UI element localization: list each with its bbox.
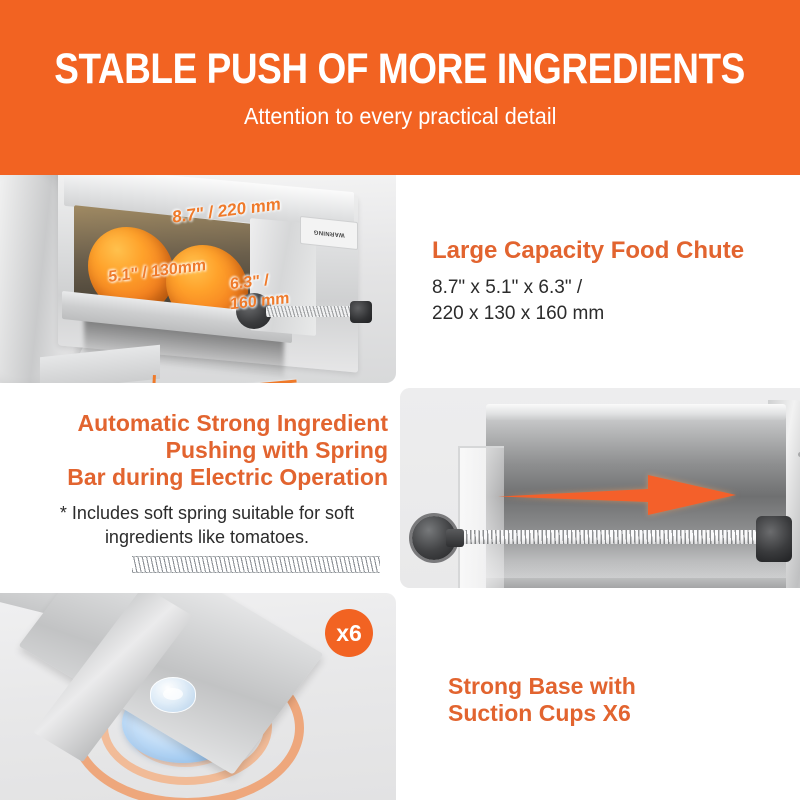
suction-text-panel: Strong Base with Suction Cups X6 bbox=[400, 593, 800, 800]
spring-bar-note-line-1: * Includes soft spring suitable for soft bbox=[26, 502, 388, 525]
suction-cup-nub bbox=[150, 677, 196, 713]
spring-bar-heading-line-1: Automatic Strong Ingredient bbox=[8, 410, 388, 437]
juicer-base-rail bbox=[486, 578, 786, 588]
page-title: STABLE PUSH OF MORE INGREDIENTS bbox=[55, 48, 746, 91]
rod-end-cap bbox=[350, 301, 372, 323]
rod-end-knob bbox=[756, 516, 792, 562]
dimension-label-depth: 6.3" / 160 mm bbox=[230, 269, 289, 315]
spring-bar-note-line-2: ingredients like tomatoes. bbox=[26, 526, 388, 549]
threaded-spring-rod bbox=[462, 530, 762, 544]
warning-label: WARNING bbox=[300, 216, 358, 250]
spring-bar-heading-line-3: Bar during Electric Operation bbox=[8, 464, 388, 491]
spring-bar-text-block: Automatic Strong Ingredient Pushing with… bbox=[8, 410, 388, 549]
push-direction-arrow-icon bbox=[498, 472, 736, 518]
food-chute-heading: Large Capacity Food Chute bbox=[432, 237, 782, 265]
food-chute-dimension-line-1: 8.7" x 5.1" x 6.3" / bbox=[432, 275, 782, 301]
suction-heading-line-2: Suction Cups X6 bbox=[448, 700, 778, 727]
spring-bar-note: * Includes soft spring suitable for soft… bbox=[8, 502, 388, 549]
suction-count-badge: x6 bbox=[325, 609, 373, 657]
juicer-top-lip bbox=[486, 404, 786, 420]
infographic-page: STABLE PUSH OF MORE INGREDIENTS Attentio… bbox=[0, 0, 800, 800]
adjustment-knob bbox=[412, 516, 456, 560]
suction-text-block: Strong Base with Suction Cups X6 bbox=[448, 673, 778, 727]
spring-bar-photo-panel bbox=[400, 388, 800, 588]
header-banner: STABLE PUSH OF MORE INGREDIENTS Attentio… bbox=[0, 0, 800, 175]
spring-bar-heading-line-2: Pushing with Spring bbox=[8, 437, 388, 464]
coil-spring-graphic bbox=[132, 556, 380, 573]
spring-bar-photo bbox=[400, 388, 800, 588]
suction-heading-line-1: Strong Base with bbox=[448, 673, 778, 700]
page-subtitle: Attention to every practical detail bbox=[244, 105, 556, 128]
food-chute-dimension-line-2: 220 x 130 x 160 mm bbox=[432, 301, 782, 327]
food-chute-text-panel: Large Capacity Food Chute 8.7" x 5.1" x … bbox=[400, 175, 800, 383]
food-chute-text-block: Large Capacity Food Chute 8.7" x 5.1" x … bbox=[432, 237, 782, 327]
